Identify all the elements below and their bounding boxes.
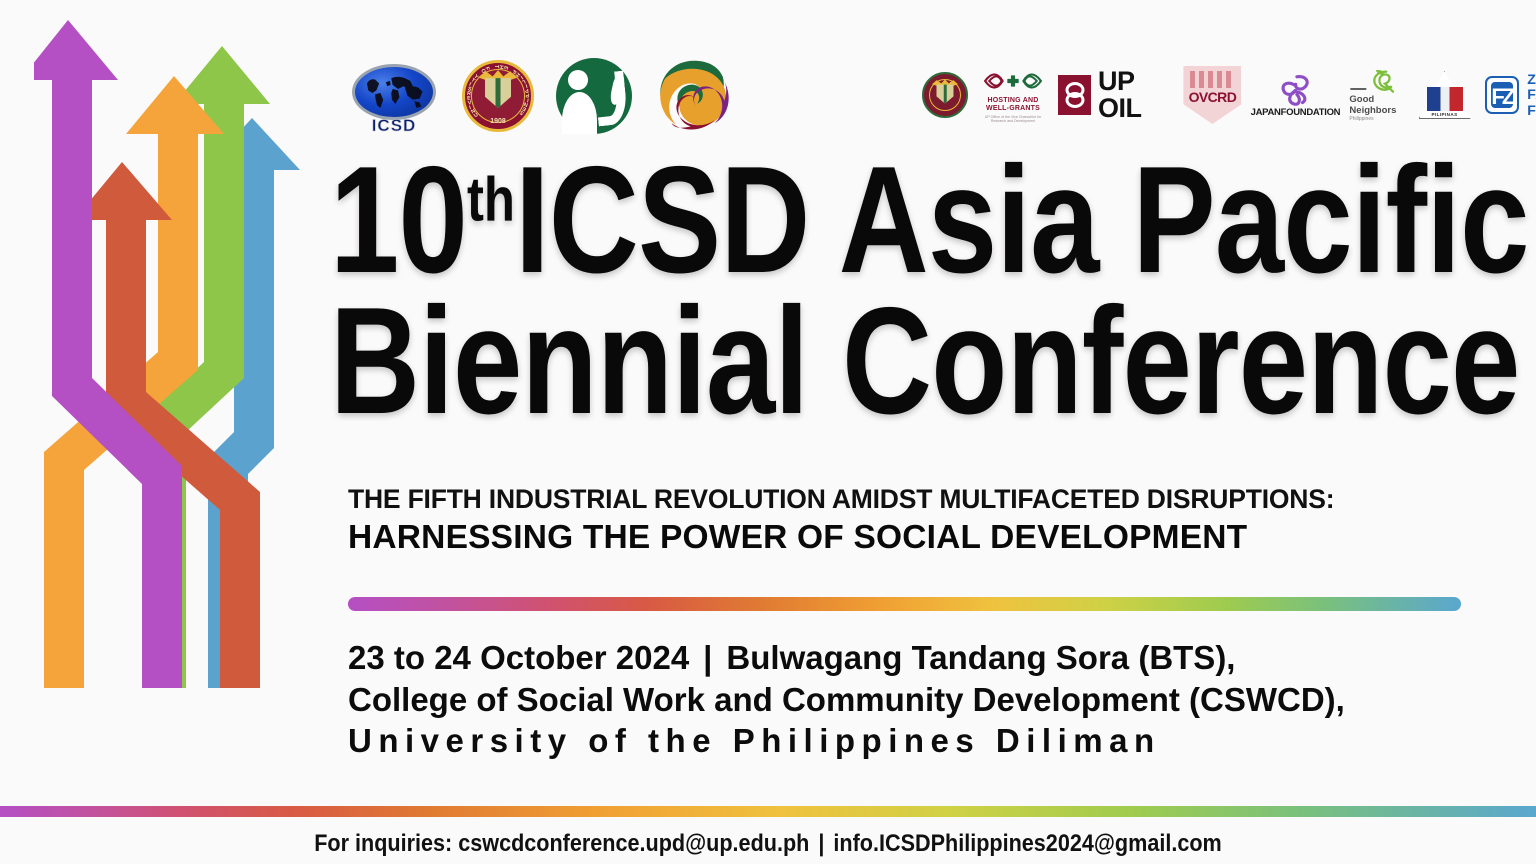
title-line-2: Biennial Conference [330,291,1281,432]
good-neighbors-line3: Philippines [1349,117,1373,122]
zuellig-line1: ZUELLIG FAMILY [1527,72,1536,102]
event-details: 23 to 24 October 2024|Bulwagang Tandang … [348,637,1483,762]
hwg-subtitle: UP Office of the Vice Chancellor for Res… [982,115,1044,124]
zuellig-mark-icon: FZ [1485,76,1520,114]
event-date: 23 to 24 October 2024 [348,639,689,676]
title-ordinal-suffix: th [467,165,515,234]
poster-title: 10thICSD Asia Pacific Biennial Conferenc… [330,150,1490,433]
good-neighbors-logo: Good Neighbors Philippines [1349,68,1404,122]
event-venue: Bulwagang Tandang Sora (BTS), [726,639,1235,676]
icsd-philippines-swirl-logo [654,56,734,136]
stripes-icon [1190,71,1234,88]
pia-wordmark: PILIPINAS [1419,113,1471,118]
japan-foundation-logo: JAPANFOUNDATION [1255,73,1335,118]
bottom-gradient-bar [0,806,1536,817]
building-icon [1440,87,1449,111]
footer-inquiries: For inquiries: cswcdconference.upd@up.ed… [77,830,1459,858]
up-oil-wordmark: UP OIL [1098,68,1169,122]
leaf-ampersand-icon [1349,68,1397,94]
hosting-and-well-grants-logo: HOSTING AND WELL-GRANTS UP Office of the… [982,67,1044,123]
conference-poster: ICSD 1908 UNIVERSITY OF THE PHILIPPINES [0,0,1536,864]
zuellig-family-foundation-logo: FZ ZUELLIG FAMILY FOUNDATION [1485,72,1536,117]
up-seal-ring-text: UNIVERSITY OF THE PHILIPPINES [462,60,534,132]
up-seal-small-logo [922,72,968,118]
footer-label: For inquiries: [314,830,452,857]
footer-email-1[interactable]: cswcdconference.upd@up.edu.ph [458,830,809,857]
cswcd-logo [556,58,632,134]
up-oil-logo: UP OIL [1058,68,1169,122]
up-seal-logo: 1908 UNIVERSITY OF THE PHILIPPINES [462,60,534,132]
butterfly-icon [1275,73,1315,107]
footer-separator: | [809,830,833,857]
footer-email-2[interactable]: info.ICSDPhilippines2024@gmail.com [833,830,1221,857]
detail-line-university: University of the Philippines Diliman [348,720,1483,762]
person-head-icon [568,70,588,90]
ovcrd-wordmark: OVCRD [1183,90,1241,104]
zuellig-line2: FOUNDATION [1527,103,1536,118]
title-line-1: 10thICSD Asia Pacific [330,150,1281,291]
subtitle-line-2: HARNESSING THE POWER OF SOCIAL DEVELOPME… [348,516,1478,560]
hwg-title: HOSTING AND WELL-GRANTS [982,97,1044,113]
good-neighbors-line1: Good [1349,95,1374,105]
icsd-logo-text: ICSD [348,117,440,134]
poster-subtitle: THE FIFTH INDUSTRIAL REVOLUTION AMIDST M… [348,483,1478,560]
philippine-information-agency-logo: PILIPINAS [1419,71,1471,119]
primary-logo-row: ICSD 1908 UNIVERSITY OF THE PHILIPPINES [348,50,734,142]
subtitle-line-1: THE FIFTH INDUSTRIAL REVOLUTION AMIDST M… [348,483,1478,516]
gradient-divider-bar [348,597,1461,611]
five-upward-arrows-graphic [34,18,314,808]
good-neighbors-line2: Neighbors [1349,106,1396,116]
detail-line-date-venue: 23 to 24 October 2024|Bulwagang Tandang … [348,637,1483,679]
up-oil-mark-icon [1058,75,1091,115]
detail-line-college: College of Social Work and Community Dev… [348,679,1483,721]
ovcrd-logo: OVCRD [1183,66,1241,124]
detail-separator: | [689,639,726,676]
swirl-icon [654,56,734,136]
japan-foundation-wordmark: JAPANFOUNDATION [1251,108,1341,118]
icsd-logo: ICSD [348,56,440,136]
wings-icon [982,67,1044,95]
world-map-icon [360,70,428,112]
sponsor-logo-row: HOSTING AND WELL-GRANTS UP Office of the… [922,60,1536,130]
